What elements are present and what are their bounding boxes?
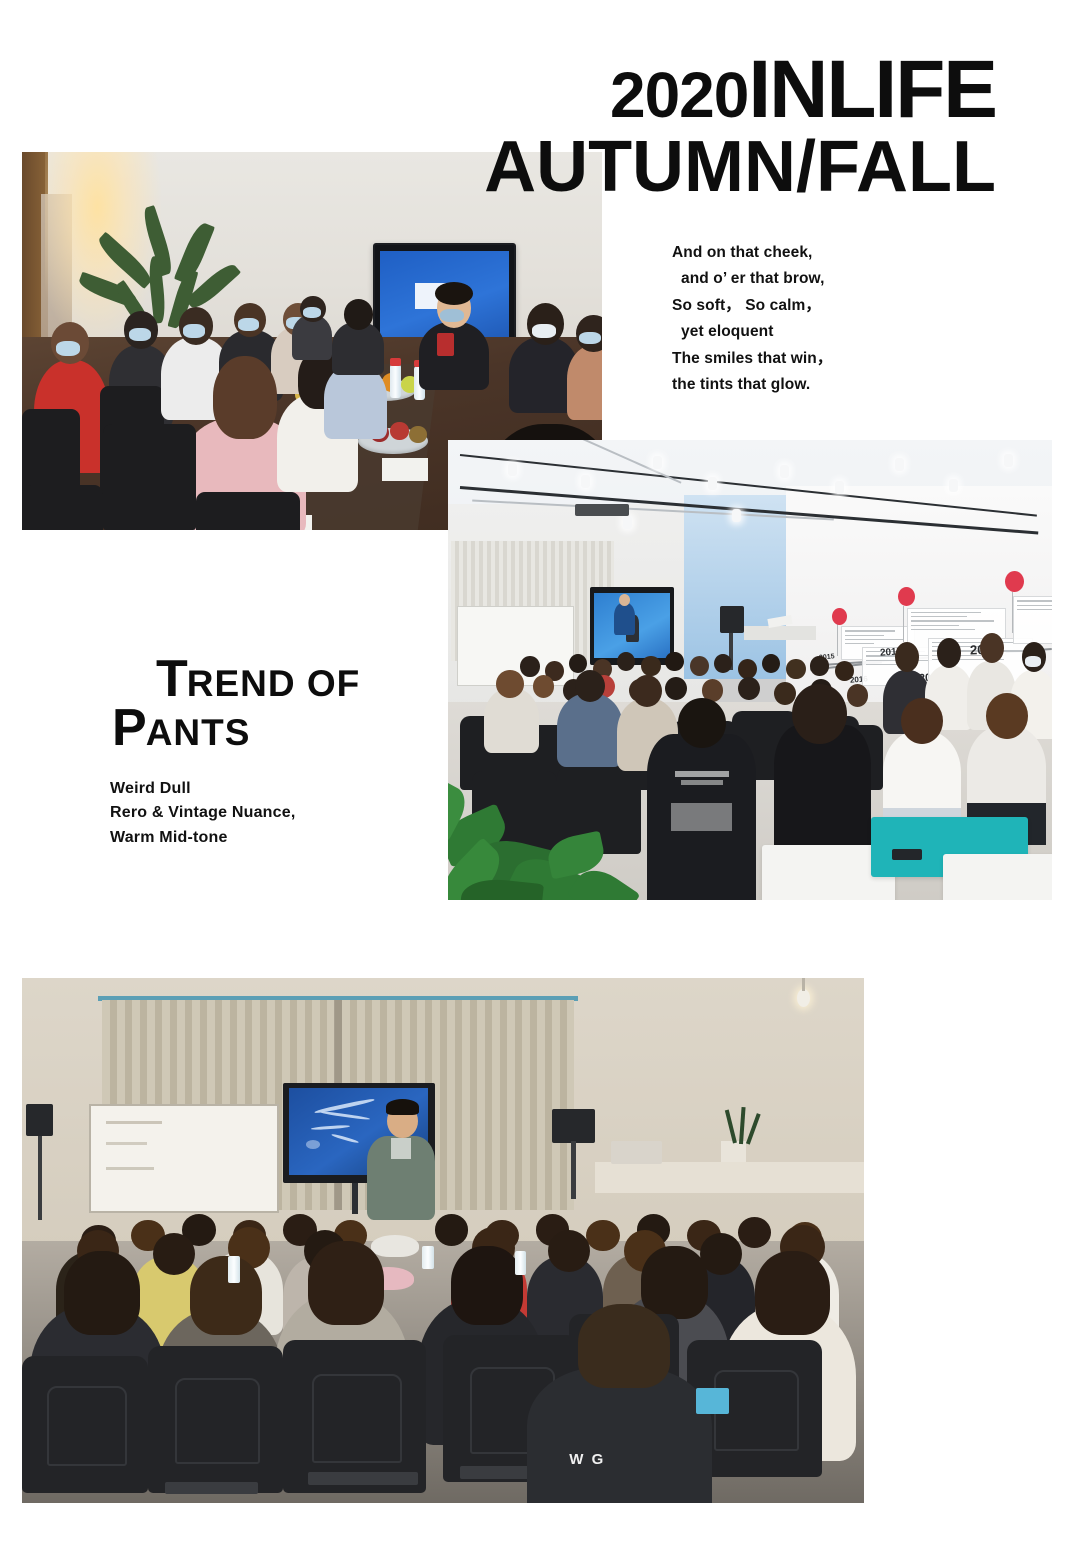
photo-lecture-hall: W G: [22, 978, 864, 1503]
poem-line: yet eloquent: [672, 322, 832, 342]
title-brand: INLIFE: [748, 44, 996, 135]
title-year: 2020: [610, 59, 748, 131]
subtitle-line: Weird Dull: [110, 778, 296, 799]
poem-line: The smiles that win，: [672, 349, 832, 369]
section-heading-line-2: PANTS: [112, 704, 360, 753]
poem-line: and o’ er that brow,: [672, 269, 832, 289]
title-season: AUTUMN/FALL: [440, 131, 996, 203]
foreground-plants: [448, 771, 690, 900]
section-heading-line-1: TREND OF: [112, 655, 360, 704]
poem-line: So soft， So calm，: [672, 296, 832, 316]
jacket-text: W G: [569, 1451, 605, 1468]
heading-cap-p: P: [112, 699, 146, 757]
heading-rest-pants: ANTS: [146, 712, 251, 753]
poster-canvas: 2015 2016 2017 2018 2019: [0, 0, 1080, 1562]
poem-block: And on that cheek, and o’ er that brow, …: [672, 243, 832, 402]
subtitle-line: Rero & Vintage Nuance,: [110, 802, 296, 823]
section-heading: TREND OF PANTS: [112, 655, 360, 754]
subtitle-line: Warm Mid-tone: [110, 827, 296, 848]
title-line-1: 2020INLIFE: [440, 52, 996, 127]
heading-cap-t: T: [156, 650, 187, 708]
poem-line: And on that cheek,: [672, 243, 832, 263]
photo-showroom-seminar: 2015 2016 2017 2018 2019: [448, 440, 1052, 900]
poem-line: the tints that glow.: [672, 375, 832, 395]
poster-title: 2020INLIFE AUTUMN/FALL: [440, 52, 996, 203]
section-subtitle: Weird Dull Rero & Vintage Nuance, Warm M…: [110, 778, 296, 851]
heading-rest-trend: REND OF: [187, 663, 361, 704]
whiteboard: [89, 1104, 278, 1213]
